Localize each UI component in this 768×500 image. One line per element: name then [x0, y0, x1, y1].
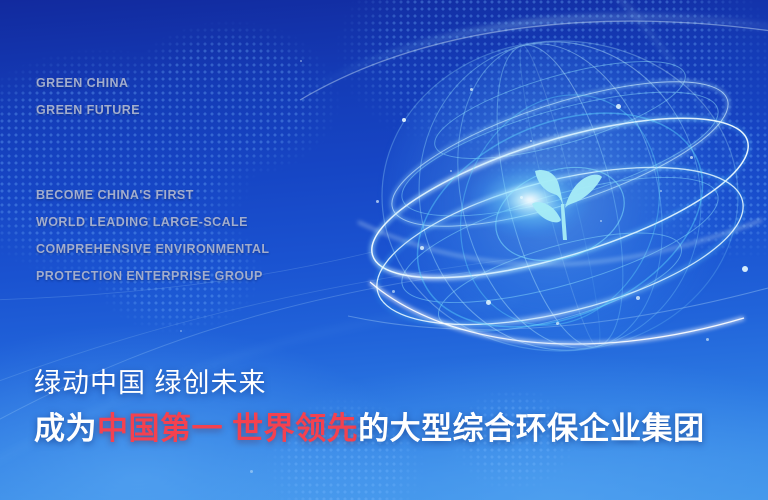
green-china-banner: GREEN CHINA GREEN FUTURE BECOME CHINA'S … [0, 0, 768, 500]
mission-line-1: BECOME CHINA'S FIRST [36, 182, 269, 209]
mission-line-4: PROTECTION ENTERPRISE GROUP [36, 263, 269, 290]
tagline-line-2: GREEN FUTURE [36, 97, 140, 124]
headline-line-1: 绿动中国 绿创未来 [34, 366, 267, 400]
english-tagline-block: GREEN CHINA GREEN FUTURE [36, 70, 140, 124]
wireframe-globe [352, 14, 768, 374]
mission-line-3: COMPREHENSIVE ENVIRONMENTAL [36, 236, 269, 263]
english-mission-block: BECOME CHINA'S FIRST WORLD LEADING LARGE… [36, 182, 269, 290]
headline-prefix: 成为 [34, 411, 97, 446]
globe-core-flare [470, 162, 590, 238]
globe-atmosphere-glow [382, 40, 738, 350]
headline-highlight: 中国第一 世界领先 [97, 411, 358, 446]
mission-line-2: WORLD LEADING LARGE-SCALE [36, 209, 269, 236]
globe-wireframe-svg [352, 14, 768, 374]
tagline-line-1: GREEN CHINA [36, 70, 140, 97]
sprout-seedling-icon [524, 158, 604, 250]
headline-suffix: 的大型综合环保企业集团 [358, 411, 705, 446]
headline-line-2: 成为中国第一 世界领先的大型综合环保企业集团 [34, 410, 705, 448]
